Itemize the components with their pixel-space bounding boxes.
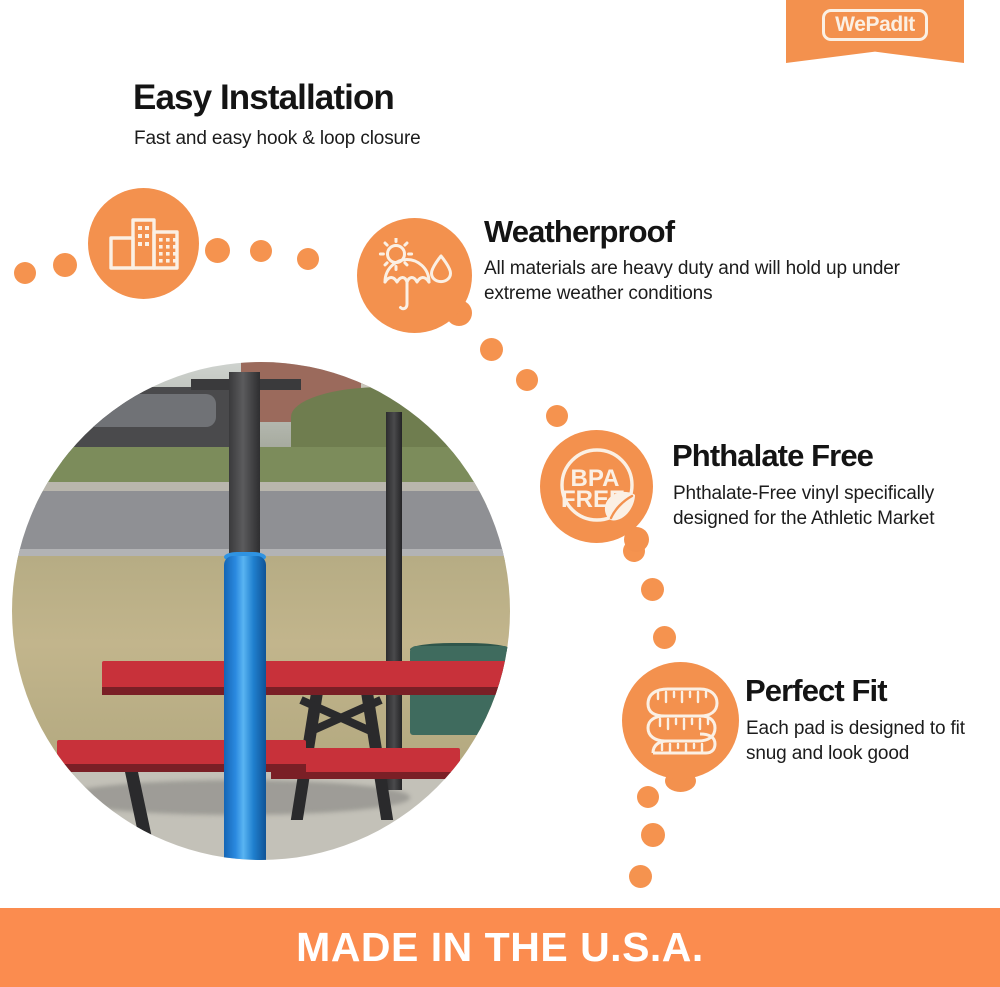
feature-subtitle-weatherproof: All materials are heavy duty and will ho… xyxy=(484,256,904,307)
feature-subtitle-perfect-fit: Each pad is designed to fit snug and loo… xyxy=(746,716,981,767)
trail-dot xyxy=(480,338,503,361)
photo-scene xyxy=(12,362,510,860)
trail-dot xyxy=(641,823,665,847)
infographic-page: We Pad It Easy Installation Fast and eas… xyxy=(0,0,1000,987)
trail-dot xyxy=(53,253,77,277)
trail-dot xyxy=(14,262,36,284)
sun-umbrella-raindrop-icon xyxy=(357,218,472,333)
feature-title-phthalate-free: Phthalate Free xyxy=(672,438,873,474)
trail-dot xyxy=(205,238,230,263)
buildings-icon xyxy=(88,188,199,299)
logo-wordmark: We Pad It xyxy=(822,9,928,41)
feature-title-easy-installation: Easy Installation xyxy=(133,78,394,118)
logo-text-pad: Pad xyxy=(865,14,902,35)
trail-dot xyxy=(637,786,659,808)
trail-dot xyxy=(516,369,538,391)
trail-dot xyxy=(629,865,652,888)
trail-dot xyxy=(297,248,319,270)
brand-logo[interactable]: We Pad It xyxy=(786,0,964,63)
banner-text: MADE IN THE U.S.A. xyxy=(296,924,704,971)
trail-dot xyxy=(546,405,568,427)
made-in-usa-banner: MADE IN THE U.S.A. xyxy=(0,908,1000,987)
product-photo xyxy=(12,362,510,860)
feature-subtitle-phthalate-free: Phthalate-Free vinyl specifically design… xyxy=(673,481,943,532)
trail-dot xyxy=(653,626,676,649)
feature-title-weatherproof: Weatherproof xyxy=(484,214,674,250)
logo-text-we: We xyxy=(835,14,865,35)
measuring-tape-icon xyxy=(622,662,739,779)
feature-title-perfect-fit: Perfect Fit xyxy=(745,673,887,709)
feature-subtitle-easy-installation: Fast and easy hook & loop closure xyxy=(134,126,421,151)
logo-text-it: It xyxy=(903,14,915,35)
bpa-free-leaf-icon: BPA FREE xyxy=(540,430,653,543)
trail-dot xyxy=(641,578,664,601)
trail-dot xyxy=(250,240,272,262)
